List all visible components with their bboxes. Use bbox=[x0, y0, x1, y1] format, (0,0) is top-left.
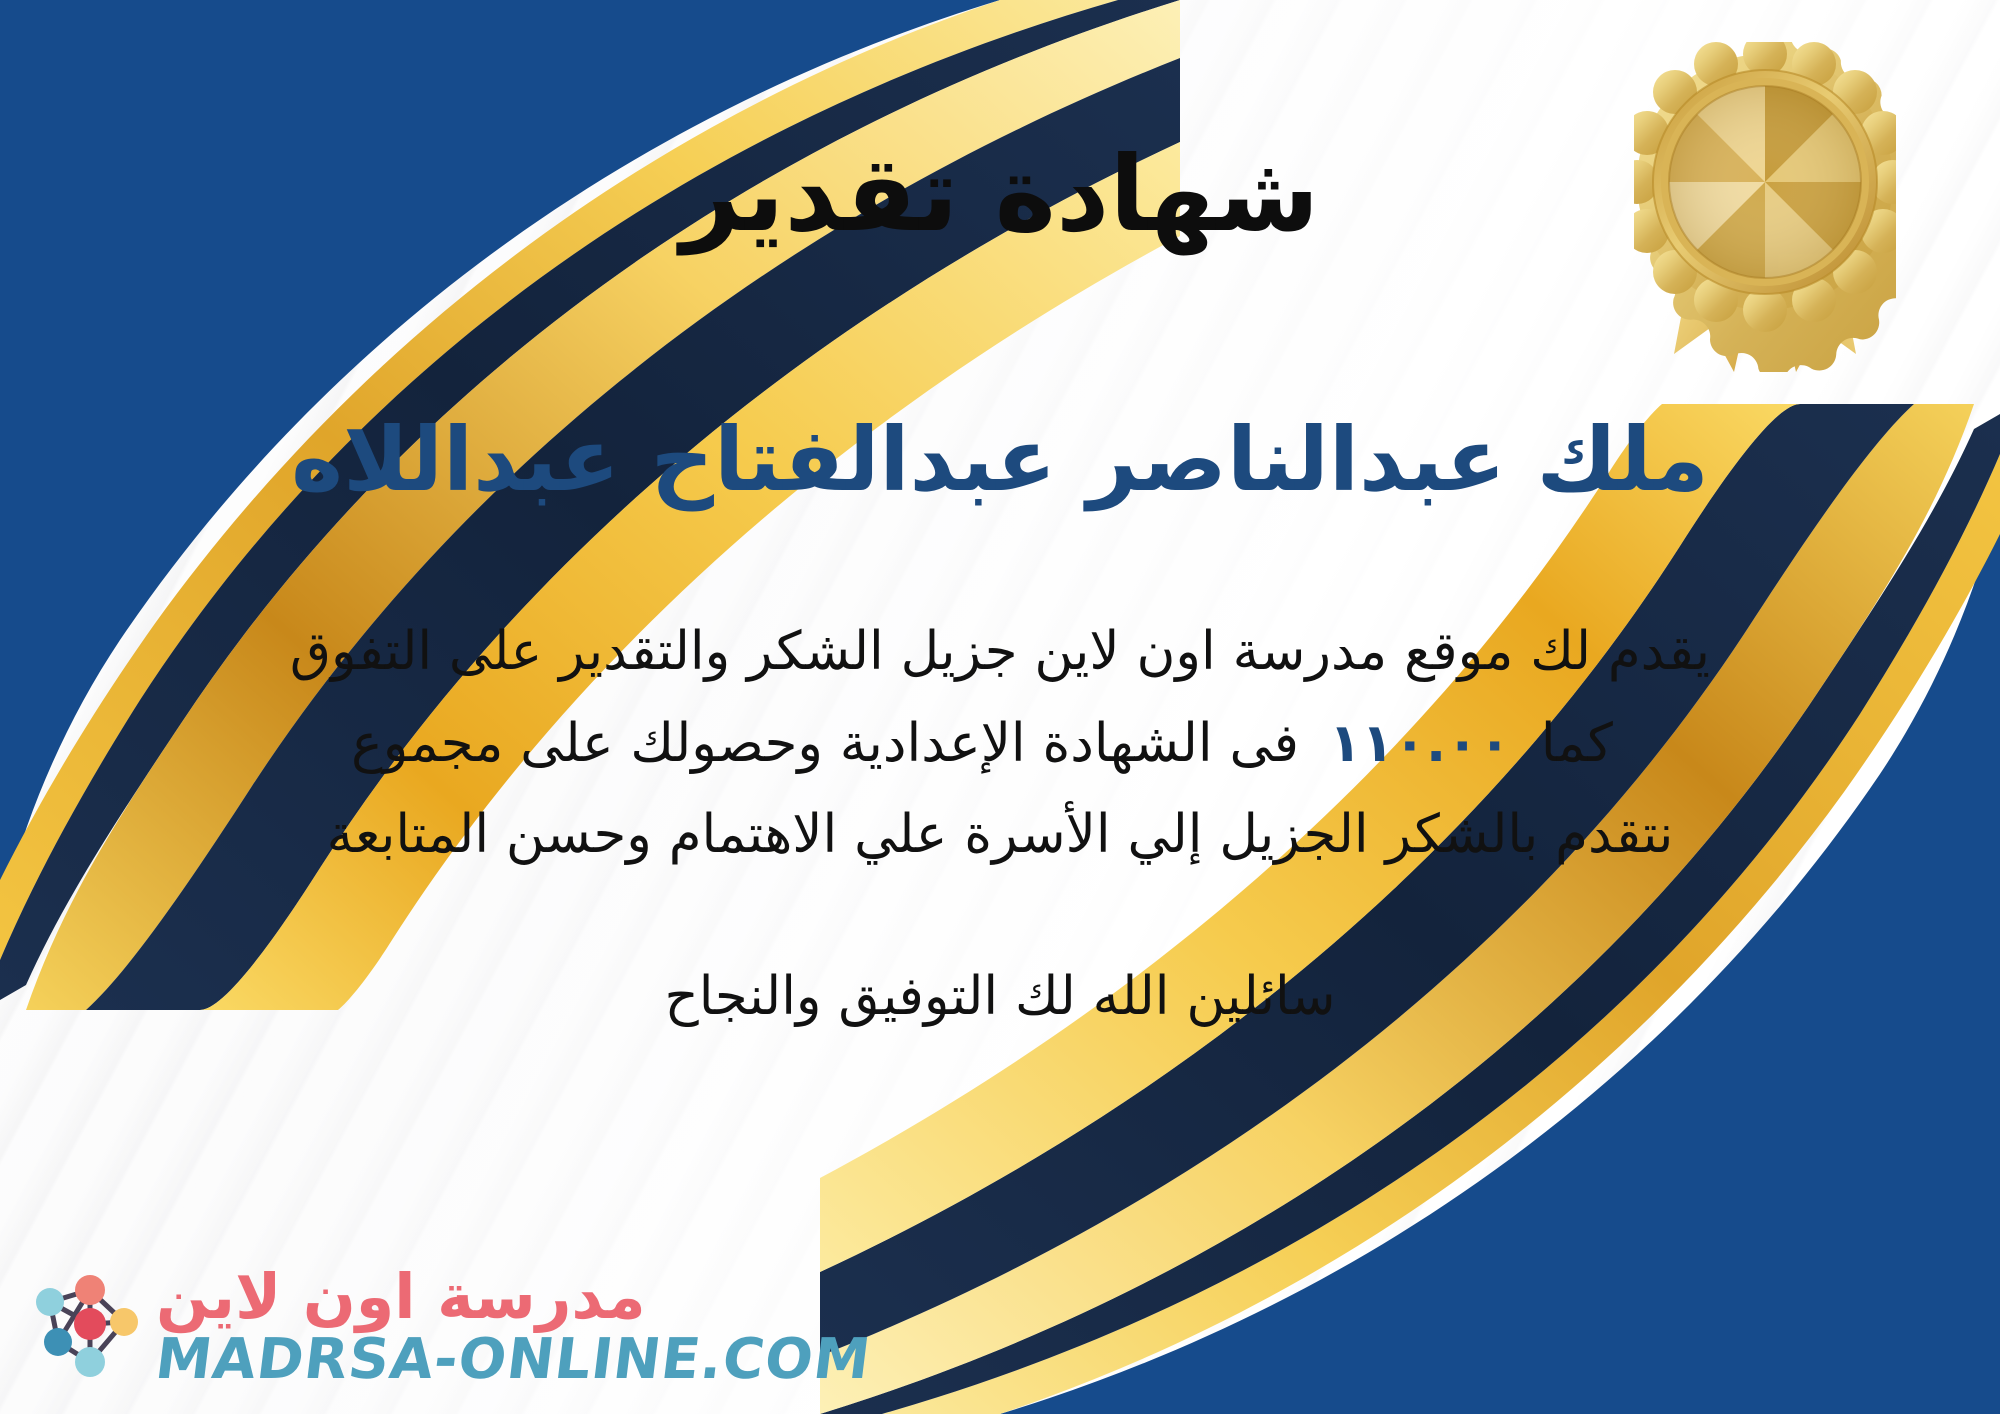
certificate-page: شهادة تقدير ملك عبدالناصر عبدالفتاح عبدا… bbox=[0, 0, 2000, 1414]
brand-name-arabic: مدرسة اون لاين bbox=[156, 1266, 646, 1328]
brand-website-url[interactable]: MADRSA-ONLINE.COM bbox=[153, 1332, 874, 1388]
recipient-name: ملك عبدالناصر عبدالفتاح عبداللاه bbox=[291, 409, 1709, 510]
network-nodes-icon bbox=[28, 1268, 146, 1386]
brand-logo[interactable]: مدرسة اون لاين MADRSA-ONLINE.COM bbox=[28, 1266, 870, 1388]
citation-line-3: نتقدم بالشكر الجزيل إلي الأسرة علي الاهت… bbox=[150, 789, 1850, 880]
certificate-content: شهادة تقدير ملك عبدالناصر عبدالفتاح عبدا… bbox=[0, 0, 2000, 1414]
citation-line-2: كما ١١٠.٠٠ فى الشهادة الإعدادية وحصولك ع… bbox=[150, 698, 1850, 789]
brand-text-block: مدرسة اون لاين MADRSA-ONLINE.COM bbox=[156, 1266, 870, 1388]
citation-body: يقدم لك موقع مدرسة اون لاين جزيل الشكر و… bbox=[150, 606, 1850, 879]
total-score-value: ١١٠.٠٠ bbox=[1299, 698, 1541, 789]
page-title: شهادة تقدير bbox=[681, 140, 1320, 249]
citation-line-2-suffix: كما bbox=[1541, 698, 1649, 789]
closing-wish: سائلين الله لك التوفيق والنجاح bbox=[664, 966, 1335, 1027]
citation-line-2-prefix: فى الشهادة الإعدادية وحصولك على مجموع bbox=[351, 698, 1299, 789]
citation-line-1: يقدم لك موقع مدرسة اون لاين جزيل الشكر و… bbox=[150, 606, 1850, 697]
